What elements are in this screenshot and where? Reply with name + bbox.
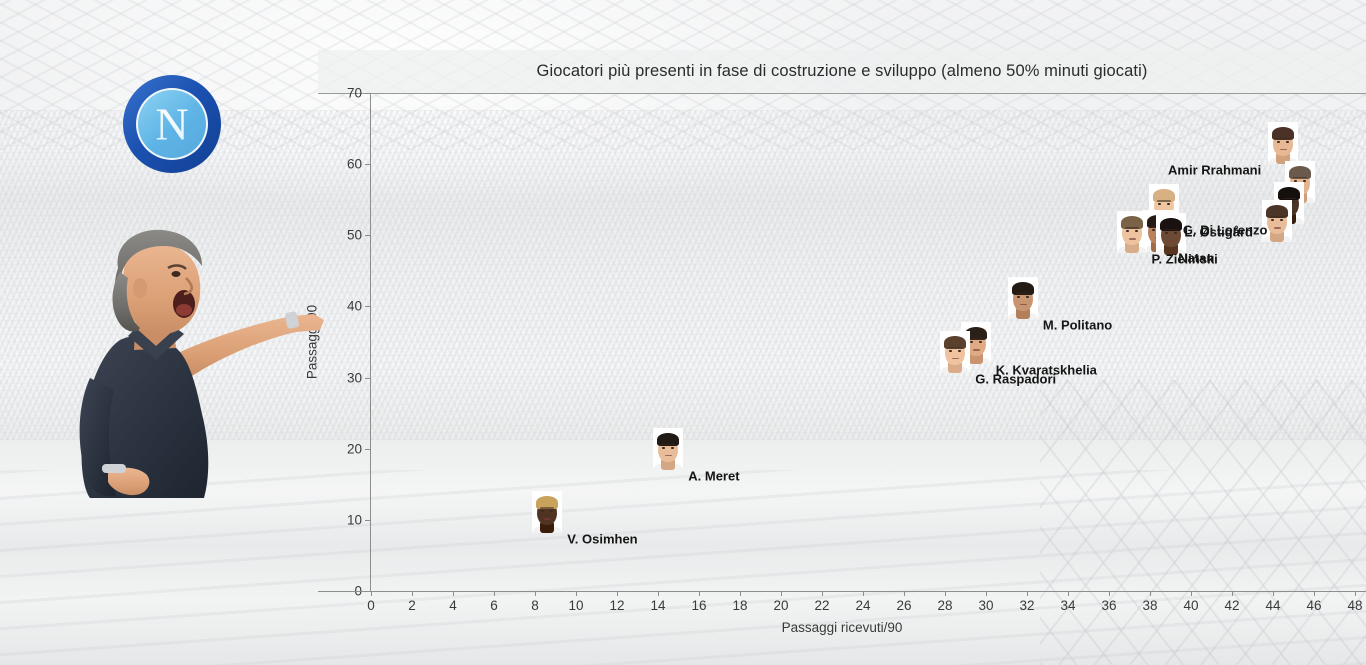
scatter-point-label: Amir Rrahmani [1168, 162, 1261, 177]
x-tick-label: 20 [773, 598, 788, 613]
x-tick-label: 36 [1101, 598, 1116, 613]
y-tick-label: 60 [347, 157, 362, 172]
y-axis-line [370, 93, 371, 591]
player-head-icon [532, 491, 562, 533]
scatter-point-label: A. Meret [688, 468, 739, 483]
player-head-icon [1117, 211, 1147, 253]
player-head-icon [1008, 277, 1038, 319]
x-tick-label: 26 [896, 598, 911, 613]
y-tick-label: 10 [347, 512, 362, 527]
x-tick-label: 28 [937, 598, 952, 613]
x-tick-label: 18 [732, 598, 747, 613]
x-tick-label: 40 [1183, 598, 1198, 613]
x-tick-label: 16 [691, 598, 706, 613]
x-tick-label: 34 [1060, 598, 1075, 613]
x-tick-label: 42 [1224, 598, 1239, 613]
x-axis-label: Passaggi ricevuti/90 [782, 620, 903, 635]
x-tick-label: 6 [490, 598, 498, 613]
chart-title-bar: Giocatori più presenti in fase di costru… [318, 50, 1366, 94]
x-tick-label: 2 [408, 598, 416, 613]
y-tick-label: 40 [347, 299, 362, 314]
coach-photo [24, 228, 334, 498]
x-tick-label: 38 [1142, 598, 1157, 613]
scatter-point-label: V. Osimhen [567, 532, 637, 547]
scatter-point-label: M. Politano [1043, 317, 1112, 332]
chart-panel: Giocatori più presenti in fase di costru… [318, 50, 1366, 665]
x-tick-label: 48 [1347, 598, 1362, 613]
crest-letter: N [155, 99, 188, 150]
y-tick-label: 30 [347, 370, 362, 385]
napoli-crest-logo: N [122, 74, 222, 174]
x-tick-label: 24 [855, 598, 870, 613]
x-tick-label: 10 [568, 598, 583, 613]
x-tick-label: 32 [1019, 598, 1034, 613]
chart-title: Giocatori più presenti in fase di costru… [537, 62, 1148, 81]
player-head-icon [1156, 213, 1186, 255]
x-tick-label: 0 [367, 598, 375, 613]
player-head-icon [1268, 122, 1298, 164]
scatter-plot-area: Amir RrahmaniG. Di LorenzoL. ØstigårdNat… [371, 93, 1355, 591]
scatter-point-label: G. Raspadori [975, 371, 1056, 386]
scatter-point-label: L. Østigård [1184, 225, 1253, 240]
x-tick-label: 12 [609, 598, 624, 613]
x-tick-label: 22 [814, 598, 829, 613]
y-tick-label: 50 [347, 228, 362, 243]
y-tick-label: 70 [347, 86, 362, 101]
player-head-icon [653, 428, 683, 470]
x-tick-label: 4 [449, 598, 457, 613]
player-head-icon [940, 331, 970, 373]
x-tick-label: 8 [531, 598, 539, 613]
y-tick-label: 20 [347, 441, 362, 456]
scatter-point-label: P. Zieliński [1152, 252, 1218, 267]
x-tick-label: 46 [1306, 598, 1321, 613]
x-tick-label: 44 [1265, 598, 1280, 613]
x-axis-line [318, 591, 1366, 592]
x-tick-label: 30 [978, 598, 993, 613]
x-tick-label: 14 [650, 598, 665, 613]
